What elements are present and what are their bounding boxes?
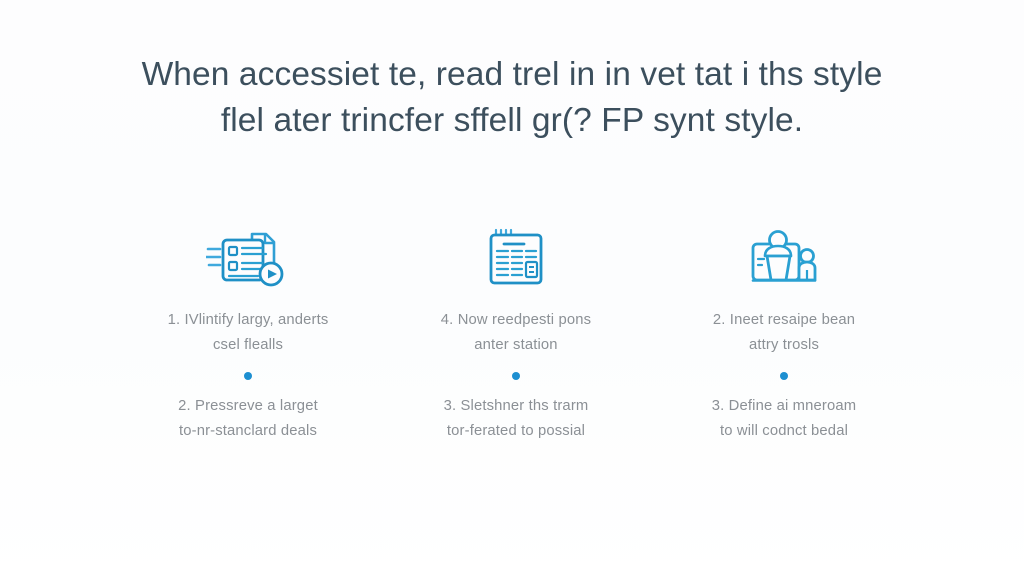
bullet-dot-icon: [780, 372, 788, 380]
feature-text-line: 3. Define ai mneroam: [669, 394, 899, 419]
page-title: When accessiet te, read trel in in vet t…: [0, 0, 1024, 144]
feature-text-line: anter station: [401, 333, 631, 358]
feature-column-2: 4. Now reedpesti pons anter station 3. S…: [385, 222, 647, 444]
bullet-dot-icon: [512, 372, 520, 380]
feature-text-line: 3. Sletshner ths trarm: [401, 394, 631, 419]
feature-text-block: 4. Now reedpesti pons anter station: [401, 308, 631, 358]
page-title-line-2: flel ater trincfer sffell gr(? FP synt s…: [70, 98, 954, 144]
feature-text-line: to-nr-stanclard deals: [133, 419, 363, 444]
feature-text-line: 2. Ineet resaipe bean: [669, 308, 899, 333]
feature-column-2-body: 4. Now reedpesti pons anter station 3. S…: [401, 308, 631, 444]
page-title-line-1: When accessiet te, read trel in in vet t…: [70, 52, 954, 98]
feature-columns: 1. IVlintify largy, anderts csel flealls…: [0, 222, 1024, 444]
feature-text-block: 1. IVlintify largy, anderts csel flealls: [133, 308, 363, 358]
feature-column-3-body: 2. Ineet resaipe bean attry trosls 3. De…: [669, 308, 899, 444]
feature-column-1-body: 1. IVlintify largy, anderts csel flealls…: [133, 308, 363, 444]
checklist-document-play-icon: [206, 222, 290, 294]
bullet-separator: [133, 358, 363, 394]
feature-column-1: 1. IVlintify largy, anderts csel flealls…: [117, 222, 379, 444]
feature-text-line: to will codnct bedal: [669, 419, 899, 444]
feature-text-block: 2. Pressreve a larget to-nr-stanclard de…: [133, 394, 363, 444]
feature-text-block: 3. Sletshner ths trarm tor-ferated to po…: [401, 394, 631, 444]
feature-text-block: 3. Define ai mneroam to will codnct beda…: [669, 394, 899, 444]
feature-text-block: 2. Ineet resaipe bean attry trosls: [669, 308, 899, 358]
bullet-dot-icon: [244, 372, 252, 380]
presenter-at-desk-icon: [745, 222, 823, 294]
feature-text-line: 4. Now reedpesti pons: [401, 308, 631, 333]
bullet-separator: [401, 358, 631, 394]
spreadsheet-report-icon: [480, 222, 552, 294]
feature-text-line: 1. IVlintify largy, anderts: [133, 308, 363, 333]
feature-text-line: tor-ferated to possial: [401, 419, 631, 444]
feature-column-3: 2. Ineet resaipe bean attry trosls 3. De…: [653, 222, 915, 444]
slide-canvas: When accessiet te, read trel in in vet t…: [0, 0, 1024, 585]
bullet-separator: [669, 358, 899, 394]
feature-text-line: csel flealls: [133, 333, 363, 358]
feature-text-line: attry trosls: [669, 333, 899, 358]
feature-text-line: 2. Pressreve a larget: [133, 394, 363, 419]
